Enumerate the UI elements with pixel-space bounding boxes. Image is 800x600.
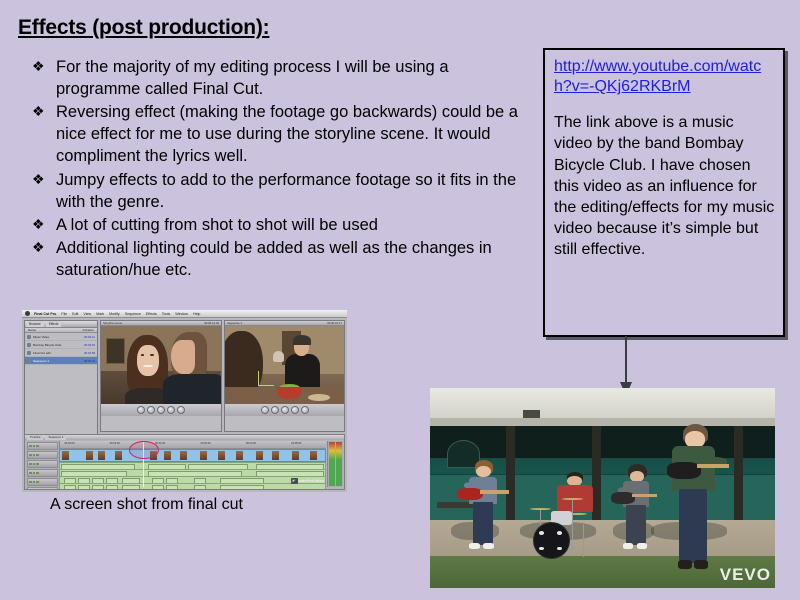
canvas-video-frame (225, 326, 344, 404)
bullet-marker-icon: ❖ (32, 214, 45, 236)
table-row: Music Video 00:04:12 (25, 333, 97, 341)
link-description-text: The link above is a music video by the b… (554, 112, 775, 260)
member-head (476, 466, 491, 478)
viewer-timecode: 00:00:14:02 (204, 321, 219, 325)
cat (273, 351, 285, 362)
page-title: Effects (post production): (18, 16, 269, 40)
fcp-timeline-tabbar: Timeline Sequence 1 (25, 435, 344, 440)
menu-item-effects: Effects (146, 312, 157, 316)
member-legs (473, 502, 494, 544)
menu-item-edit: Edit (72, 312, 78, 316)
transport-button-icon (137, 406, 145, 414)
ruler-tick: 00:05:00 (291, 442, 301, 445)
canvas-timecode: 00:00:21:17 (327, 321, 342, 325)
audio-meter-left (329, 442, 335, 486)
guitar-body (457, 488, 483, 501)
red-circle-annotation (129, 441, 159, 459)
fcp-viewer-panel: Storyline scene 00:00:14:02 (100, 320, 222, 432)
member-shoe (483, 543, 494, 549)
menu-item-sequence: Sequence (125, 312, 141, 316)
transport-button-icon (301, 406, 309, 414)
menu-item-help: Help (193, 312, 200, 316)
tab-sequence: Sequence 1 (45, 435, 66, 440)
transport-button-icon (167, 406, 175, 414)
band-member-bassist-left (461, 460, 506, 552)
logo-mark-icon: ◤ (291, 478, 298, 484)
transport-button-icon (271, 406, 279, 414)
drum-kit (527, 498, 603, 562)
ruler-tick: 00:04:00 (246, 442, 256, 445)
bullet-marker-icon: ❖ (32, 101, 45, 123)
clip-name: Sequence 1 (33, 359, 84, 363)
transport-button-icon (281, 406, 289, 414)
shelter-post (506, 426, 515, 520)
guitar-neck (480, 490, 509, 493)
clip-duration: 00:05:01 (84, 359, 97, 363)
guitar-neck (697, 464, 729, 468)
column-header-duration: Duration (83, 328, 94, 332)
column-header-name: Name (28, 328, 36, 332)
track-header-v1 (27, 442, 58, 450)
table-row: Final Cut edit 00:02:58 (25, 349, 97, 357)
menu-item-file: File (61, 312, 67, 316)
transport-button-icon (291, 406, 299, 414)
roof-vent (523, 410, 540, 418)
list-item: ❖ Reversing effect (making the footage g… (30, 101, 530, 167)
crop-reticle-icon (258, 371, 273, 386)
bass-drum (533, 522, 570, 559)
guitar-body (667, 462, 701, 478)
logo-text: macProVideo (299, 479, 325, 483)
effects-bullet-list: ❖ For the majority of my editing process… (30, 56, 530, 282)
final-cut-screenshot-caption: A screen shot from final cut (50, 496, 243, 514)
fcp-viewer-transport (101, 404, 221, 416)
timeline-audio-track-4 (59, 483, 326, 490)
clip-icon (27, 351, 31, 355)
tab-effects: Effects (46, 321, 62, 327)
band-performance-photo: VEVO (430, 388, 775, 588)
man-face (171, 340, 195, 374)
member-shoe (469, 543, 480, 549)
bullet-marker-icon: ❖ (32, 56, 45, 78)
timeline-video-track (59, 449, 326, 462)
timeline-ruler: 00:00:00 00:01:00 00:02:00 00:03:00 00:0… (59, 441, 326, 449)
list-item-text: Jumpy effects to add to the performance … (56, 171, 516, 211)
member-shoe (637, 543, 647, 549)
scene-picture-frame (106, 338, 125, 363)
member-shoe (694, 560, 708, 569)
plate (308, 394, 329, 401)
woman-face (137, 345, 159, 376)
audio-meters (327, 441, 343, 487)
spacer (554, 97, 775, 112)
audio-meter-right (336, 442, 342, 486)
track-header-a2 (27, 460, 58, 468)
transport-button-icon (177, 406, 185, 414)
fcp-browser-tabbar: Browser Effects (25, 321, 97, 328)
presentation-slide: Effects (post production): ❖ For the maj… (0, 0, 800, 600)
fcp-timeline-panel: Timeline Sequence 1 00:00:00 00:01:00 00… (24, 434, 345, 490)
tab-timeline: Timeline (27, 435, 43, 440)
track-header-a3 (27, 469, 58, 477)
menu-item-mark: Mark (96, 312, 104, 316)
clip-duration: 00:02:58 (84, 351, 97, 355)
fcp-menu-bar: Final Cut Pro File Edit View Mark Modify… (22, 310, 347, 318)
clip-icon (27, 359, 31, 363)
youtube-link[interactable]: http://www.youtube.com/watch?v=-QKj62RKB… (554, 57, 775, 97)
list-item-text: Reversing effect (making the footage go … (56, 103, 518, 165)
hi-hat-stand (583, 524, 584, 557)
vevo-watermark: VEVO (720, 565, 771, 585)
list-item: ❖ Additional lighting could be added as … (30, 237, 530, 281)
member-legs (626, 505, 646, 545)
macprovideo-watermark: ◤ macProVideo (291, 478, 325, 484)
cymbal-stand (572, 499, 573, 550)
viewer-video-frame (101, 326, 221, 404)
clip-icon (27, 343, 31, 347)
clip-duration: 00:04:12 (84, 335, 97, 339)
track-header-a1 (27, 451, 58, 459)
list-item: ❖ For the majority of my editing process… (30, 56, 530, 100)
ruler-tick: 00:03:00 (201, 442, 211, 445)
menu-item-modify: Modify (109, 312, 120, 316)
table-row: Sequence 1 00:05:01 (25, 357, 97, 365)
clip-name: Final Cut edit (33, 351, 84, 355)
canvas-clip-name: Sequence 1 (227, 321, 242, 325)
member-shoe (678, 560, 692, 569)
list-item: ❖ Jumpy effects to add to the performanc… (30, 169, 530, 213)
list-item-text: For the majority of my editing process I… (56, 58, 449, 98)
apple-logo-icon (25, 311, 30, 316)
scene-dinner-table-right (225, 326, 344, 404)
clip-icon (27, 335, 31, 339)
track-header-a5 (27, 487, 58, 490)
transport-button-icon (147, 406, 155, 414)
member-legs (679, 489, 706, 563)
menu-item-tools: Tools (162, 312, 170, 316)
member-shoe (623, 543, 633, 549)
track-header-a4 (27, 478, 58, 486)
band-member-lead-guitarist (665, 424, 727, 572)
man-body (163, 374, 221, 404)
menu-item-window: Window (175, 312, 188, 316)
menu-item-view: View (83, 312, 91, 316)
fcp-canvas-panel: Sequence 1 00:00:21:17 (224, 320, 345, 432)
clip-name: Music Video (33, 335, 84, 339)
list-item-text: A lot of cutting from shot to shot will … (56, 216, 378, 234)
timeline-track-headers (26, 441, 60, 487)
final-cut-screenshot-image: Final Cut Pro File Edit View Mark Modify… (22, 310, 347, 492)
scene-dinner-table-left (101, 326, 221, 404)
shelter-post (734, 426, 743, 520)
link-text-box: http://www.youtube.com/watch?v=-QKj62RKB… (543, 48, 785, 337)
menu-item-final-cut-pro: Final Cut Pro (34, 312, 56, 316)
ruler-tick: 00:00:00 (64, 442, 74, 445)
transport-button-icon (157, 406, 165, 414)
guitar-neck (632, 494, 657, 497)
bullet-marker-icon: ❖ (32, 237, 45, 259)
woman-eye-right (150, 354, 154, 356)
clip-duration: 00:03:45 (84, 343, 97, 347)
list-item: ❖ A lot of cutting from shot to shot wil… (30, 214, 530, 236)
list-item-text: Additional lighting could be added as we… (56, 239, 492, 279)
transport-button-icon (261, 406, 269, 414)
bullet-marker-icon: ❖ (32, 169, 45, 191)
tab-browser: Browser (26, 321, 44, 327)
fcp-canvas-transport (225, 404, 344, 416)
man-hair (293, 335, 311, 346)
viewer-clip-name: Storyline scene (103, 321, 122, 325)
ruler-tick: 00:01:00 (110, 442, 120, 445)
band-member-guitarist-mid (616, 464, 657, 552)
table-row: Bombay Bicycle Club 00:03:45 (25, 341, 97, 349)
clip-name: Bombay Bicycle Club (33, 343, 84, 347)
photo-roof (430, 388, 775, 422)
